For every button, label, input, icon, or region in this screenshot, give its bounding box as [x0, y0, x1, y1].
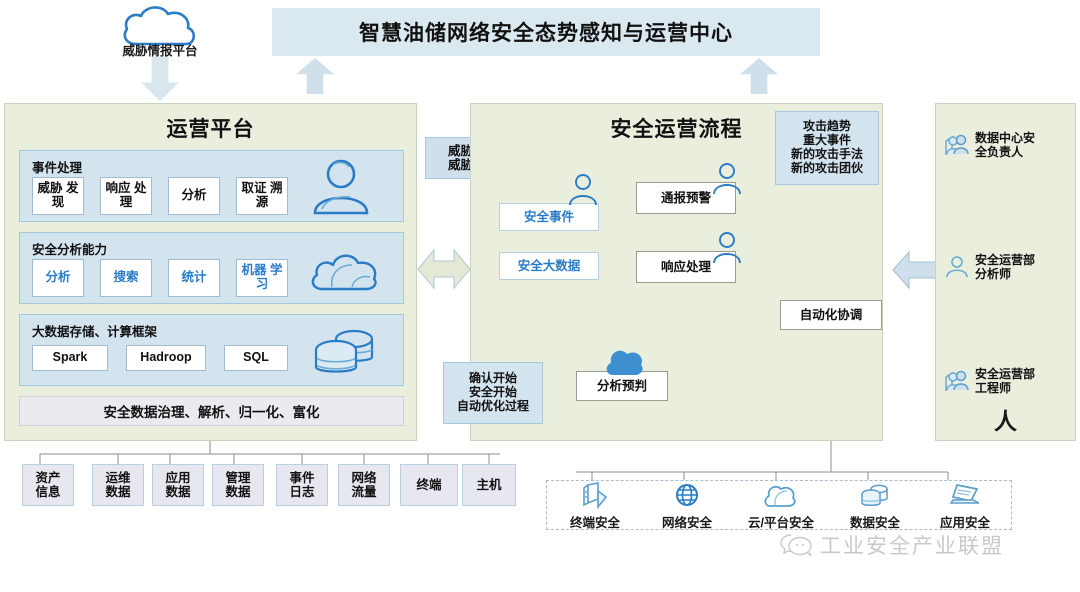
domain-application-security[interactable]: 应用安全	[919, 481, 1011, 531]
group-incident-handling: 事件处理 威胁 发现 响应 处理 分析 取证 溯源	[19, 150, 404, 222]
role-label: 数据中心安 全负责人	[975, 131, 1035, 160]
people-panel-heading: 人	[936, 402, 1075, 436]
cloud-outline-icon	[308, 249, 380, 295]
left-arrow-people	[893, 244, 937, 296]
group-security-analytics-label: 安全分析能力	[32, 239, 107, 258]
group-bigdata-framework: 大数据存储、计算框架 Spark Hadroop SQL	[19, 314, 404, 386]
person-outline-icon	[944, 254, 970, 280]
domain-label: 网络安全	[662, 512, 712, 531]
source-host[interactable]: 主机	[462, 464, 516, 506]
domain-label: 应用安全	[940, 512, 990, 531]
attack-insights-box: 攻击趋势 重大事件 新的攻击手法 新的攻击团伙	[775, 111, 879, 185]
source-ops-data[interactable]: 运维 数据	[92, 464, 144, 506]
up-arrow-right	[740, 58, 778, 94]
domain-label: 终端安全	[570, 512, 620, 531]
cloud-filled-icon	[603, 343, 647, 377]
person-outline-icon-events	[568, 173, 598, 207]
data-governance-bar: 安全数据治理、解析、归一化、富化	[19, 396, 404, 426]
chip-spark[interactable]: Spark	[32, 345, 108, 371]
group-security-analytics: 安全分析能力 分析 搜索 统计 机器 学习	[19, 232, 404, 304]
server-terminal-icon	[580, 481, 610, 511]
globe-icon	[672, 481, 702, 511]
domain-label: 云/平台安全	[748, 512, 814, 531]
people-group-icon	[944, 132, 970, 158]
cloud-outline-icon	[763, 481, 799, 511]
people-group-icon	[944, 368, 970, 394]
chip-statistics[interactable]: 统计	[168, 259, 220, 297]
chip-response-handling[interactable]: 响应 处理	[100, 177, 152, 215]
page-title-banner: 智慧油储网络安全态势感知与运营中心	[272, 8, 820, 56]
role-label: 安全运营部 分析师	[975, 253, 1035, 282]
threat-intel-label: 威胁情报平台	[95, 40, 225, 59]
left-panel-title: 运营平台	[5, 113, 416, 143]
domain-endpoint-security[interactable]: 终端安全	[549, 481, 641, 531]
chip-hadoop[interactable]: Hadroop	[126, 345, 206, 371]
group-bigdata-framework-label: 大数据存储、计算框架	[32, 321, 157, 340]
input-security-events[interactable]: 安全事件	[499, 203, 599, 231]
chip-machine-learning[interactable]: 机器 学习	[236, 259, 288, 297]
person-outline-icon	[310, 157, 372, 217]
chip-threat-discovery[interactable]: 威胁 发现	[32, 177, 84, 215]
person-outline-icon-response	[712, 231, 742, 265]
group-incident-handling-label: 事件处理	[32, 157, 82, 176]
step-automated-coordination[interactable]: 自动化协调	[780, 300, 882, 330]
chip-sql[interactable]: SQL	[224, 345, 288, 371]
domain-label: 数据安全	[850, 512, 900, 531]
domain-data-security[interactable]: 数据安全	[829, 481, 921, 531]
source-mgmt-data[interactable]: 管理 数据	[212, 464, 264, 506]
up-arrow-left	[296, 58, 334, 94]
database-outline-icon	[860, 481, 890, 511]
confirm-optimization-box: 确认开始 安全开始 自动优化过程	[443, 362, 543, 424]
database-outline-icon	[312, 325, 382, 379]
operations-platform-panel: 运营平台 事件处理 威胁 发现 响应 处理 分析 取证 溯源 安全分析能力 分析…	[4, 103, 417, 441]
watermark: 工业安全产业联盟	[780, 530, 1004, 560]
role-security-ops-engineer: 安全运营部 工程师	[944, 360, 1072, 402]
source-endpoint[interactable]: 终端	[400, 464, 458, 506]
role-label: 安全运营部 工程师	[975, 367, 1035, 396]
input-security-bigdata[interactable]: 安全大数据	[499, 252, 599, 280]
person-outline-icon-alert	[712, 162, 742, 196]
domain-cloud-platform-security[interactable]: 云/平台安全	[729, 481, 833, 531]
role-security-ops-analyst: 安全运营部 分析师	[944, 246, 1072, 288]
chip-search[interactable]: 搜索	[100, 259, 152, 297]
chip-analysis-capability[interactable]: 分析	[32, 259, 84, 297]
down-arrow-threat-intel	[141, 57, 179, 101]
source-event-logs[interactable]: 事件 日志	[276, 464, 328, 506]
source-app-data[interactable]: 应用 数据	[152, 464, 204, 506]
laptop-icon	[949, 481, 981, 511]
security-domains-group: 终端安全 网络安全 云/平台安全	[546, 480, 1012, 530]
watermark-text: 工业安全产业联盟	[820, 530, 1004, 560]
chip-forensics-tracing[interactable]: 取证 溯源	[236, 177, 288, 215]
source-asset-info[interactable]: 资产 信息	[22, 464, 74, 506]
wechat-icon	[780, 532, 814, 558]
bidirectional-arrow	[418, 238, 470, 300]
page-title: 智慧油储网络安全态势感知与运营中心	[359, 17, 733, 47]
people-panel: 数据中心安 全负责人 安全运营部 分析师 安全运营部 工程师 人	[935, 103, 1076, 441]
role-data-center-security-owner: 数据中心安 全负责人	[944, 124, 1072, 166]
source-network-traffic[interactable]: 网络 流量	[338, 464, 390, 506]
domain-network-security[interactable]: 网络安全	[641, 481, 733, 531]
chip-analysis[interactable]: 分析	[168, 177, 220, 215]
